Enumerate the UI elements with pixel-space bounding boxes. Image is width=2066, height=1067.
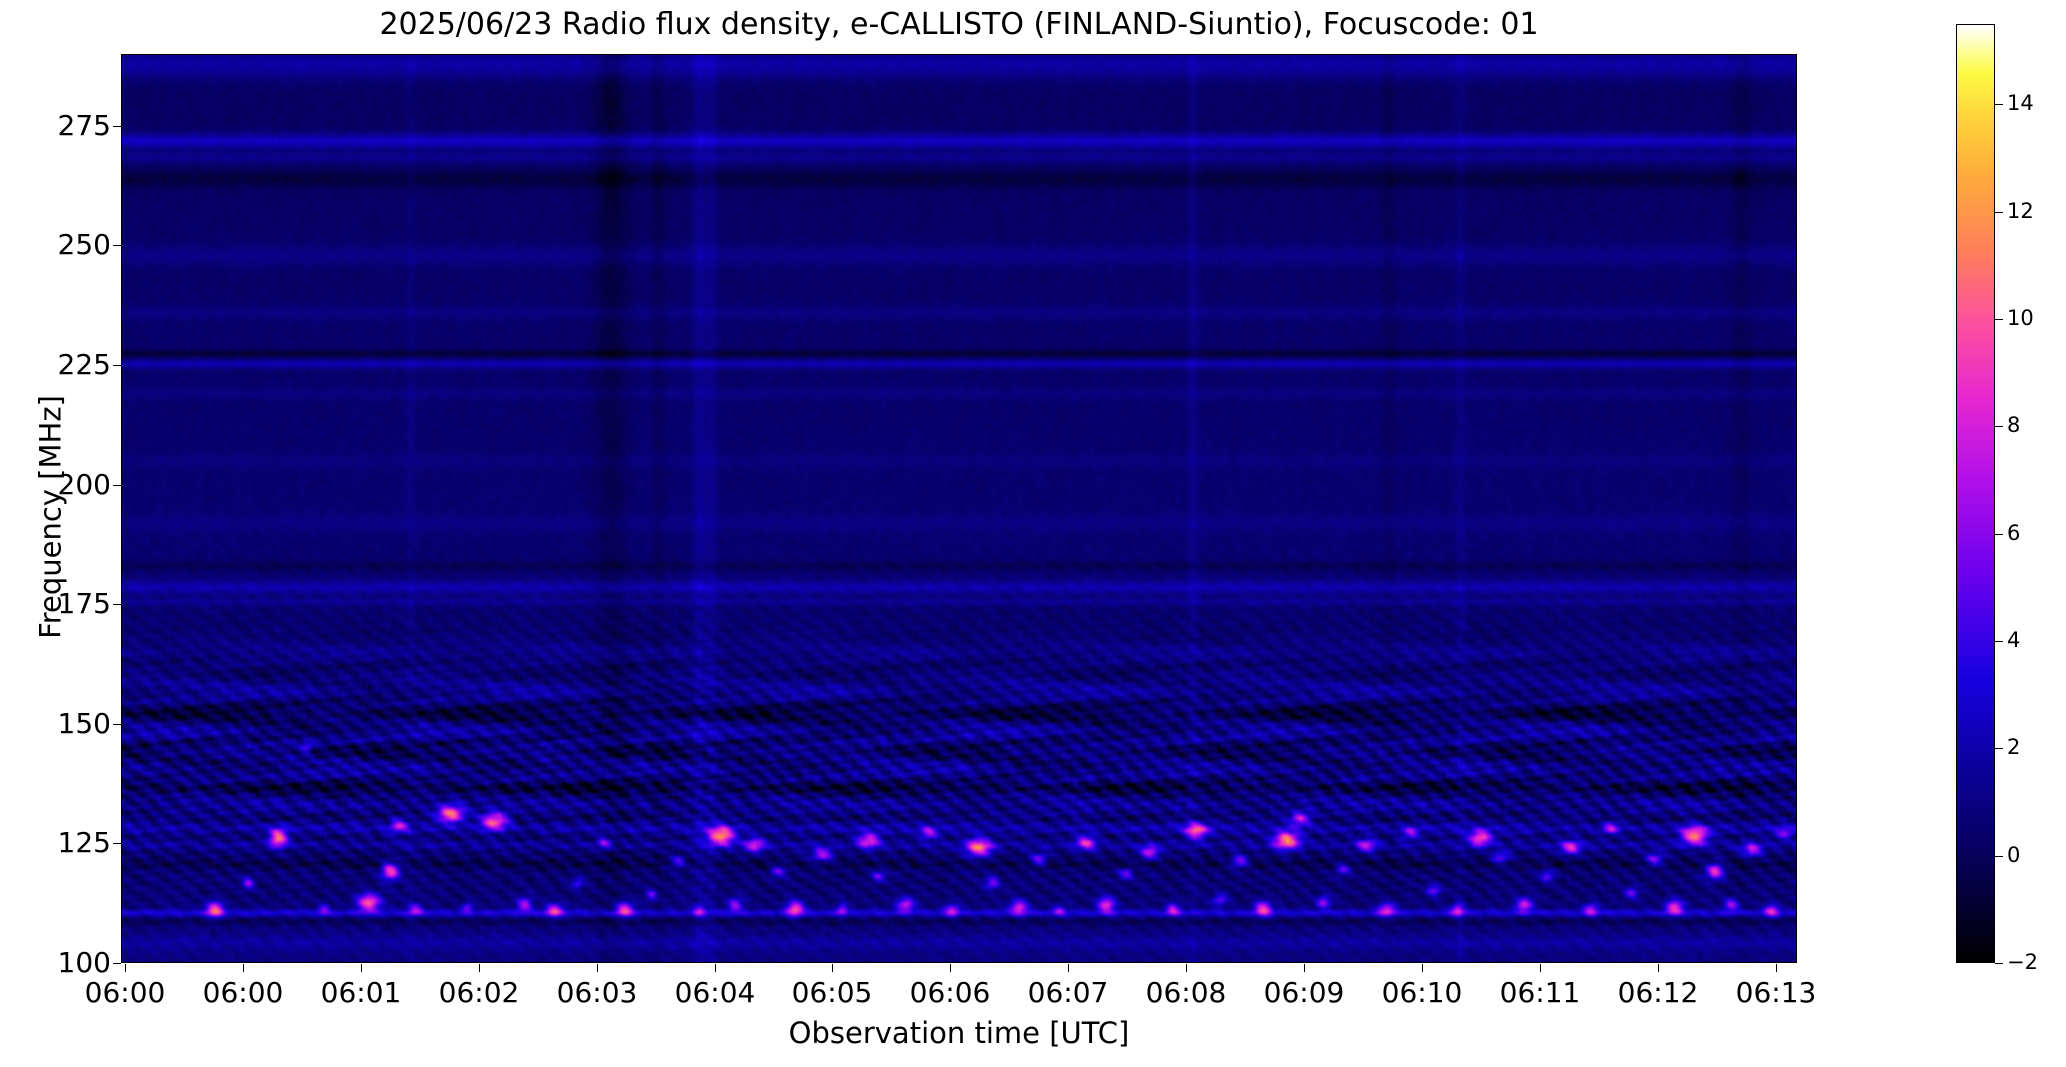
x-tick-mark: [715, 964, 716, 972]
x-tick-mark: [1186, 964, 1187, 972]
y-tick-mark: [113, 126, 121, 127]
x-axis-label: Observation time [UTC]: [121, 1016, 1797, 1050]
x-tick-label: 06:05: [792, 978, 873, 1008]
colorbar-tick-label: 2: [2007, 737, 2020, 758]
colorbar-tick-label: 14: [2007, 93, 2034, 114]
colorbar-tick-mark: [1995, 319, 2003, 320]
x-tick-label: 06:11: [1500, 978, 1581, 1008]
x-tick-mark: [832, 964, 833, 972]
x-tick-label: 06:08: [1146, 978, 1227, 1008]
y-tick-mark: [113, 485, 121, 486]
y-tick-mark: [113, 963, 121, 964]
x-tick-label: 06:01: [321, 978, 402, 1008]
colorbar-tick-label: 0: [2007, 845, 2020, 866]
colorbar-tick-mark: [1995, 534, 2003, 535]
y-tick-mark: [113, 604, 121, 605]
y-tick-label: 150: [58, 710, 111, 738]
colorbar-gradient: [1957, 25, 1994, 962]
y-tick-label: 200: [58, 471, 111, 499]
colorbar-tick-mark: [1995, 641, 2003, 642]
y-tick-mark: [113, 843, 121, 844]
spectrogram-axes[interactable]: [121, 54, 1797, 963]
x-tick-label: 06:07: [1028, 978, 1109, 1008]
spectrogram-image: [122, 55, 1796, 962]
y-tick-mark: [113, 245, 121, 246]
x-tick-label: 06:04: [675, 978, 756, 1008]
y-axis-label: Frequency [MHz]: [34, 63, 68, 972]
x-tick-label: 06:00: [203, 978, 284, 1008]
x-tick-mark: [1776, 964, 1777, 972]
x-tick-mark: [597, 964, 598, 972]
colorbar-tick-mark: [1995, 748, 2003, 749]
colorbar-tick-mark: [1995, 856, 2003, 857]
x-tick-mark: [479, 964, 480, 972]
x-tick-mark: [1540, 964, 1541, 972]
x-tick-label: 06:03: [557, 978, 638, 1008]
x-tick-label: 06:09: [1264, 978, 1345, 1008]
colorbar-tick-label: −2: [2007, 952, 2038, 973]
figure-title: 2025/06/23 Radio flux density, e-CALLIST…: [121, 6, 1797, 44]
x-tick-mark: [1068, 964, 1069, 972]
y-tick-mark: [113, 365, 121, 366]
x-tick-label: 06:02: [439, 978, 520, 1008]
colorbar-tick-label: 10: [2007, 308, 2034, 329]
x-tick-mark: [361, 964, 362, 972]
colorbar-tick-label: 8: [2007, 415, 2020, 436]
x-tick-mark: [1422, 964, 1423, 972]
y-tick-label: 250: [58, 231, 111, 259]
x-tick-mark: [125, 964, 126, 972]
colorbar-tick-mark: [1995, 104, 2003, 105]
y-tick-label: 125: [58, 829, 111, 857]
x-tick-label: 06:00: [85, 978, 166, 1008]
y-tick-label: 225: [58, 351, 111, 379]
y-tick-mark: [113, 724, 121, 725]
x-tick-mark: [1304, 964, 1305, 972]
y-tick-label: 175: [58, 590, 111, 618]
x-tick-mark: [1658, 964, 1659, 972]
colorbar-tick-label: 6: [2007, 523, 2020, 544]
colorbar-tick-mark: [1995, 426, 2003, 427]
x-tick-mark: [243, 964, 244, 972]
colorbar[interactable]: [1956, 24, 1995, 963]
colorbar-tick-label: 4: [2007, 630, 2020, 651]
y-tick-label: 100: [58, 949, 111, 977]
colorbar-tick-label: 12: [2007, 201, 2034, 222]
spectrogram-figure: 2025/06/23 Radio flux density, e-CALLIST…: [0, 0, 2066, 1067]
colorbar-tick-mark: [1995, 963, 2003, 964]
x-tick-mark: [950, 964, 951, 972]
y-tick-label: 275: [58, 112, 111, 140]
x-tick-label: 06:12: [1618, 978, 1699, 1008]
x-tick-label: 06:10: [1382, 978, 1463, 1008]
x-tick-label: 06:13: [1736, 978, 1817, 1008]
colorbar-tick-mark: [1995, 212, 2003, 213]
x-tick-label: 06:06: [910, 978, 991, 1008]
